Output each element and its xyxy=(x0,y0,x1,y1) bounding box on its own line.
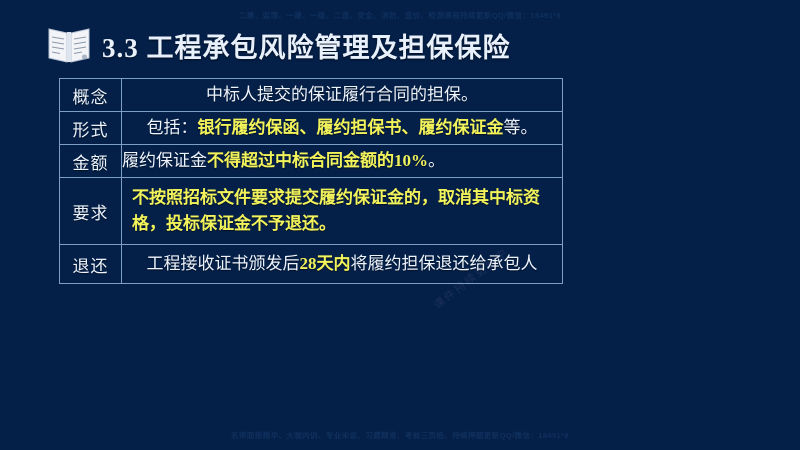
highlight-segment: 银行履约保函、履约担保书、履约保证金 xyxy=(198,118,504,137)
table-row: 金额 履约保证金不得超过中标合同金额的10%。 xyxy=(60,145,563,178)
highlight-segment: 不得超过中标合同金额的10% xyxy=(207,151,428,170)
row-value: 履约保证金不得超过中标合同金额的10%。 xyxy=(122,145,563,178)
presentation-slide: 二建、监理、一建、一级、二造、安全、消防、造价、检测课程持续更新QQ/微信：18… xyxy=(0,0,800,450)
bottom-watermark: 名师面授精华、大咖内训、专业未说、习题精准、考前三页纸、持续押题更新QQ/微信：… xyxy=(0,430,800,441)
table-row: 形式 包括：银行履约保函、履约担保书、履约保证金等。 xyxy=(60,112,563,145)
open-book-icon xyxy=(46,24,92,66)
table-body: 概念 中标人提交的保证履行合同的担保。 形式 包括：银行履约保函、履约担保书、履… xyxy=(60,79,563,284)
highlight-segment: 不按照招标文件要求提交履约保证金的，取消其中标资格，投标保证金不予退还。 xyxy=(132,188,540,233)
row-label: 金额 xyxy=(60,145,122,178)
row-label: 概念 xyxy=(60,79,122,112)
text-segment: 工程接收证书颁发后 xyxy=(147,254,300,273)
highlight-segment: 28天内 xyxy=(300,254,351,273)
text-segment: 将履约担保退还给承包人 xyxy=(351,254,538,273)
row-value: 中标人提交的保证履行合同的担保。 xyxy=(122,79,563,112)
row-value: 工程接收证书颁发后28天内将履约担保退还给承包人 xyxy=(122,245,563,284)
row-label: 形式 xyxy=(60,112,122,145)
text-segment: 等。 xyxy=(504,118,538,137)
row-value: 包括：银行履约保函、履约担保书、履约保证金等。 xyxy=(122,112,563,145)
row-label: 退还 xyxy=(60,245,122,284)
slide-title-row: 3.3 工程承包风险管理及担保保险 xyxy=(46,24,511,66)
table-row: 概念 中标人提交的保证履行合同的担保。 xyxy=(60,79,563,112)
row-value: 不按照招标文件要求提交履约保证金的，取消其中标资格，投标保证金不予退还。 xyxy=(122,178,563,245)
top-watermark: 二建、监理、一建、一级、二造、安全、消防、造价、检测课程持续更新QQ/微信：18… xyxy=(0,10,800,21)
table-row: 要求 不按照招标文件要求提交履约保证金的，取消其中标资格，投标保证金不予退还。 xyxy=(60,178,563,245)
text-segment: 。 xyxy=(428,151,445,170)
text-segment: 中标人提交的保证履行合同的担保。 xyxy=(206,85,478,104)
content-table: 概念 中标人提交的保证履行合同的担保。 形式 包括：银行履约保函、履约担保书、履… xyxy=(59,78,563,284)
row-label: 要求 xyxy=(60,178,122,245)
text-segment: 履约保证金 xyxy=(122,151,207,170)
page-title: 3.3 工程承包风险管理及担保保险 xyxy=(102,26,511,65)
table-row: 退还 工程接收证书颁发后28天内将履约担保退还给承包人 xyxy=(60,245,563,284)
text-segment: 包括： xyxy=(147,118,198,137)
